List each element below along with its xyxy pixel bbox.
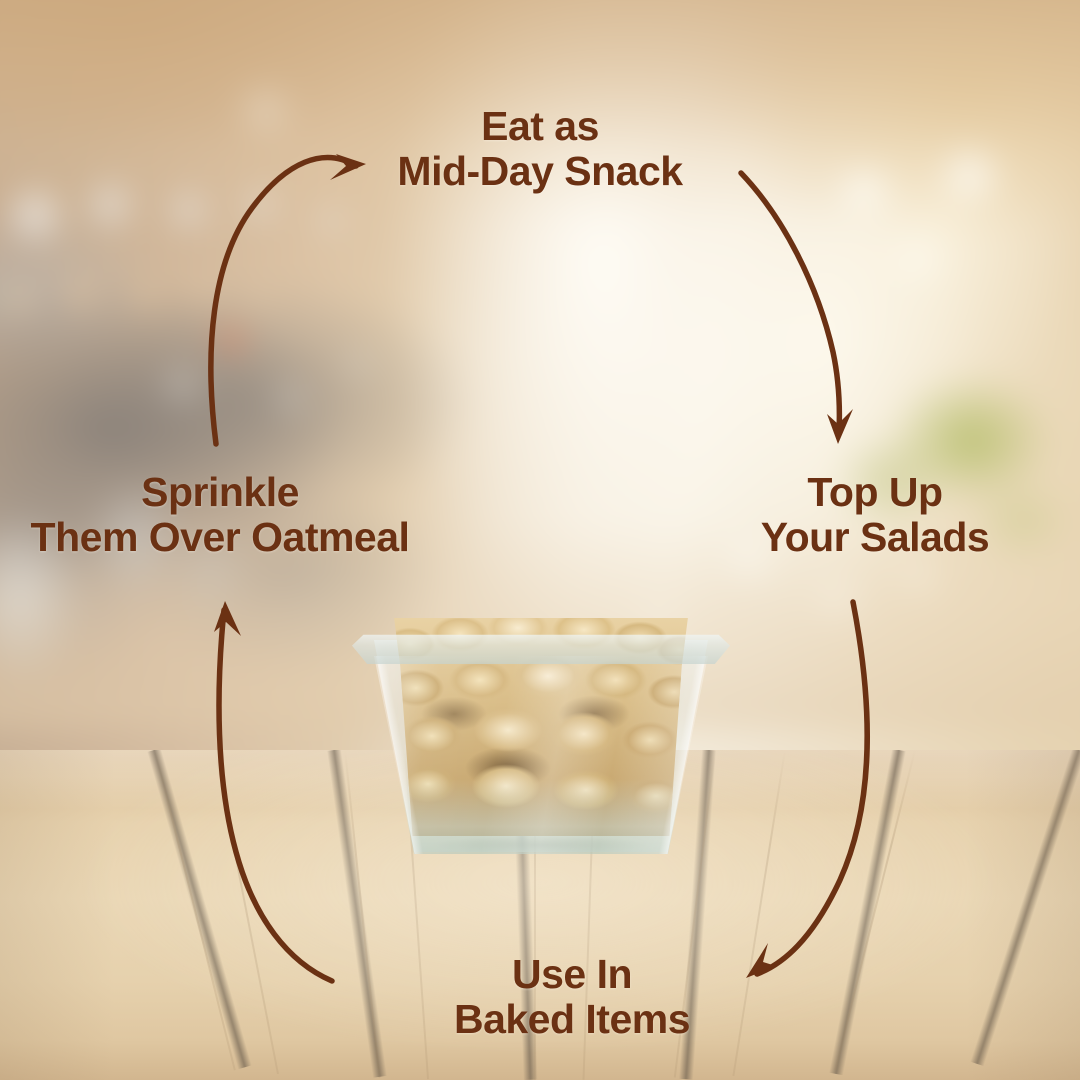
label-top-up-salads: Top Up Your Salads: [690, 470, 1060, 560]
tub-rim: [352, 630, 730, 664]
label-sprinkle-over-oatmeal: Sprinkle Them Over Oatmeal: [0, 470, 450, 560]
infographic-canvas: Eat as Mid-Day Snack Top Up Your Salads …: [0, 0, 1080, 1080]
label-use-in-baked-items: Use In Baked Items: [392, 952, 752, 1042]
label-mid-day-snack: Eat as Mid-Day Snack: [290, 104, 790, 194]
walnut-tub-product: [352, 610, 730, 852]
